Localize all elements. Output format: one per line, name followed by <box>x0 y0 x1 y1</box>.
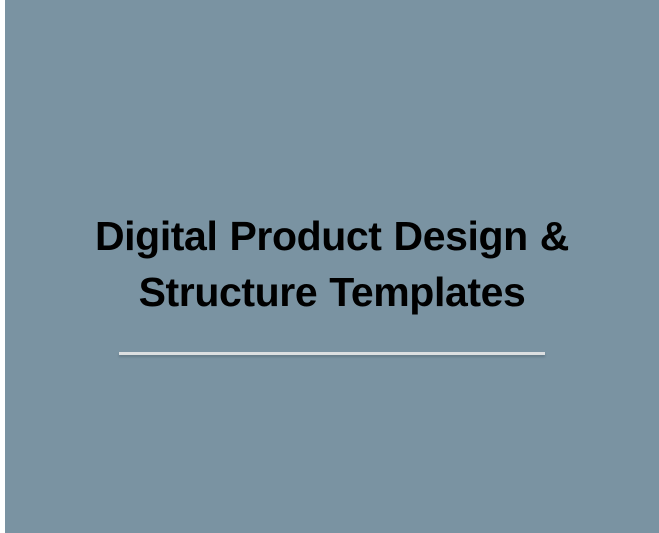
title-underline-divider <box>119 352 545 355</box>
divider-container <box>5 352 659 355</box>
presentation-slide: Digital Product Design & Structure Templ… <box>0 0 659 533</box>
page-title-line-2: Structure Templates <box>45 264 619 320</box>
page-title: Digital Product Design & Structure Templ… <box>45 208 619 320</box>
page-title-line-1: Digital Product Design & <box>45 208 619 264</box>
title-block: Digital Product Design & Structure Templ… <box>5 208 659 320</box>
